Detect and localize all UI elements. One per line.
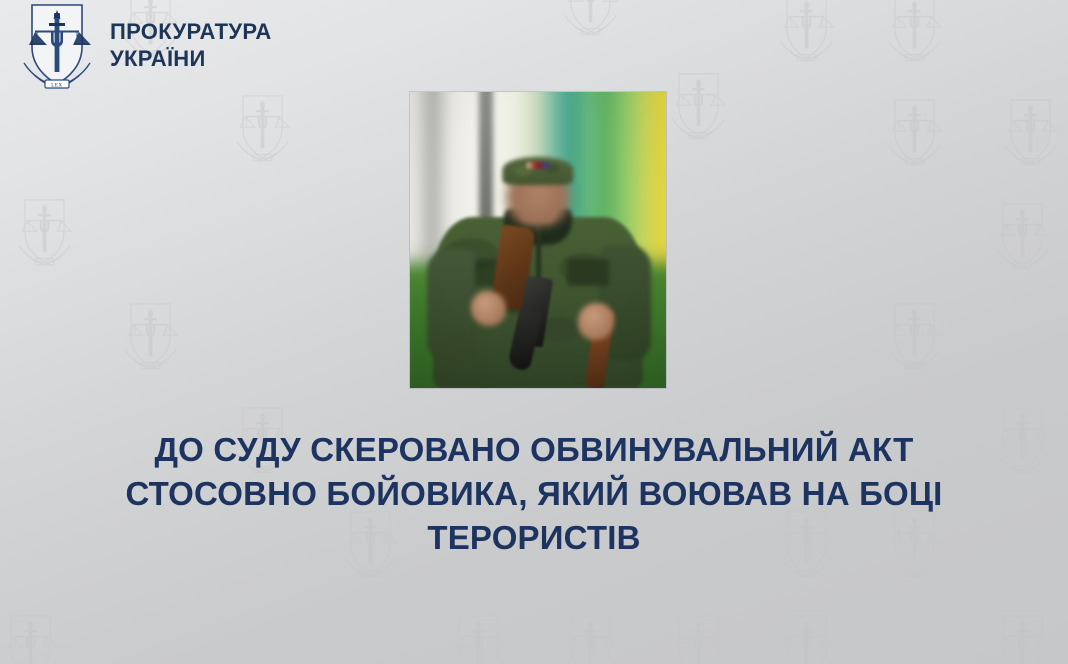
prosecutor-emblem-watermark: LEX <box>560 0 621 38</box>
announcement-canvas: LEX LEX <box>0 0 1068 664</box>
svg-text:LEX: LEX <box>910 365 919 369</box>
prosecutor-emblem-watermark: LEX <box>776 612 837 664</box>
svg-text:LEX: LEX <box>802 573 811 577</box>
svg-text:LEX: LEX <box>146 365 155 369</box>
suspect-photo <box>410 92 666 388</box>
svg-text:LEX: LEX <box>586 31 595 35</box>
prosecutor-emblem-watermark: LEX <box>14 196 75 268</box>
prosecutor-emblem-watermark: LEX <box>448 612 509 664</box>
svg-text:LEX: LEX <box>366 573 375 577</box>
prosecutor-emblem-watermark: LEX <box>884 96 945 168</box>
svg-text:LEX: LEX <box>910 573 919 577</box>
prosecutor-emblem-watermark: LEX <box>560 612 621 664</box>
svg-text:LEX: LEX <box>910 161 919 165</box>
prosecutor-general-emblem-icon: LEX <box>18 0 96 92</box>
prosecutor-emblem-watermark: LEX <box>884 0 945 64</box>
prosecutor-emblem-watermark: LEX <box>120 300 181 372</box>
prosecutor-emblem-watermark: LEX <box>0 612 61 664</box>
prosecutor-emblem-watermark: LEX <box>776 0 837 64</box>
svg-text:LEX: LEX <box>1018 265 1027 269</box>
svg-text:LEX: LEX <box>258 157 267 161</box>
svg-text:LEX: LEX <box>694 135 703 139</box>
svg-text:LEX: LEX <box>802 57 811 61</box>
photo-content <box>410 92 666 388</box>
header-title: ПРОКУРАТУРА УКРАЇНИ <box>110 19 272 73</box>
prosecutor-emblem-watermark: LEX <box>668 612 729 664</box>
svg-text:LEX: LEX <box>51 83 63 88</box>
prosecutor-emblem-watermark: LEX <box>668 70 729 142</box>
headline-text: ДО СУДУ СКЕРОВАНО ОБВИНУВАЛЬНИЙ АКТ СТОС… <box>0 428 1068 560</box>
header: LEX ПРОКУРАТУРА УКРАЇНИ <box>18 0 272 92</box>
prosecutor-emblem-watermark: LEX <box>232 92 293 164</box>
prosecutor-emblem-watermark: LEX <box>884 300 945 372</box>
prosecutor-emblem-watermark: LEX <box>992 612 1053 664</box>
prosecutor-emblem-watermark: LEX <box>1000 96 1061 168</box>
svg-text:LEX: LEX <box>910 57 919 61</box>
prosecutor-emblem-watermark: LEX <box>992 200 1053 272</box>
svg-text:LEX: LEX <box>40 261 49 265</box>
svg-text:LEX: LEX <box>1026 161 1035 165</box>
photo-vignette <box>410 92 666 388</box>
